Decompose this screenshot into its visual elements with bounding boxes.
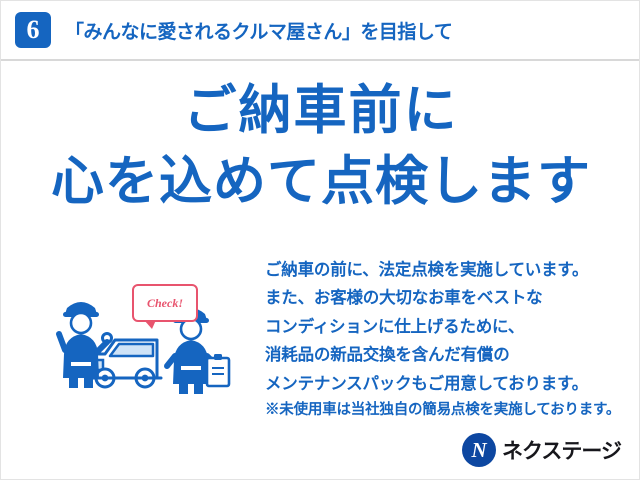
flyer-page: 6 「みんなに愛されるクルマ屋さん」を目指して ご納車前に 心を込めて点検します [0, 0, 640, 480]
header-divider [1, 59, 640, 61]
body-line-1: ご納車の前に、法定点検を実施しています。 [265, 256, 635, 284]
headline-line-1: ご納車前に [1, 81, 640, 142]
body-line-4: 消耗品の新品交換を含んだ有償の [265, 341, 635, 369]
body-line-3: コンディションに仕上げるために、 [265, 313, 635, 341]
body-note: ※未使用車は当社独自の簡易点検を実施しております。 [265, 398, 635, 423]
mechanics-illustration: Check! [49, 266, 269, 406]
section-number-badge: 6 [15, 12, 51, 48]
header: 6 「みんなに愛されるクルマ屋さん」を目指して [1, 1, 640, 59]
check-speech-bubble: Check! [132, 284, 198, 322]
headline-line-2: 心を込めて点検します [1, 150, 640, 214]
headline: ご納車前に 心を込めて点検します [1, 81, 640, 214]
header-title: 「みんなに愛されるクルマ屋さん」を目指して [65, 17, 452, 44]
brand-logo: N ネクステージ [462, 433, 621, 467]
body-line-2: また、お客様の大切なお車をベストな [265, 284, 635, 312]
logo-text: ネクステージ [502, 435, 621, 465]
body-line-5: メンテナンスパックもご用意しております。 [265, 370, 635, 398]
body-copy: ご納車の前に、法定点検を実施しています。 また、お客様の大切なお車をベストな コ… [265, 256, 635, 423]
logo-mark-icon: N [462, 433, 496, 467]
